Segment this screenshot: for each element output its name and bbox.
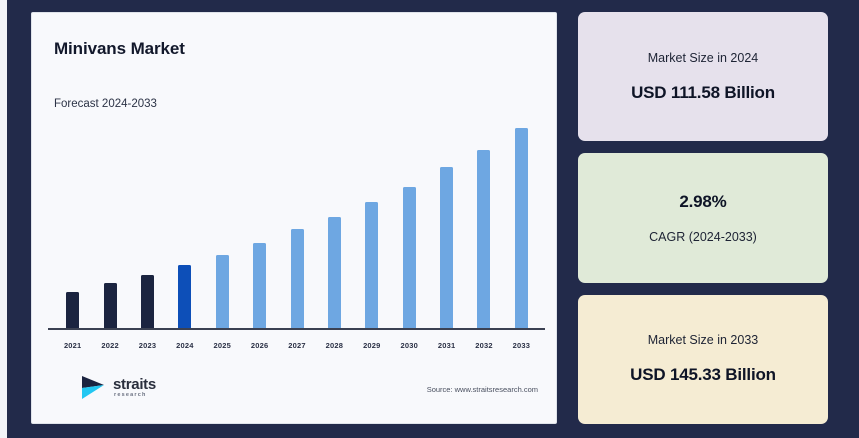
x-tick-2023: 2023 — [129, 335, 166, 353]
bar-2021 — [66, 292, 79, 328]
x-tick-2021: 2021 — [54, 335, 91, 353]
bar-2027 — [291, 229, 304, 328]
page-title: Minivans Market — [54, 39, 185, 59]
kpi-card-market-size-2024: Market Size in 2024USD 111.58 Billion — [578, 12, 828, 141]
kpi-card-list: Market Size in 2024USD 111.58 Billion2.9… — [578, 12, 828, 424]
bar-series — [54, 113, 540, 328]
kpi-value-cagr: 2.98% — [679, 192, 726, 212]
bar-2026 — [253, 243, 266, 328]
x-tick-2031: 2031 — [428, 335, 465, 353]
bar-slot-2032 — [465, 113, 502, 328]
bar-slot-2029 — [353, 113, 390, 328]
kpi-label-cagr: CAGR (2024-2033) — [649, 230, 757, 244]
bar-slot-2027 — [278, 113, 315, 328]
kpi-label-market-size-2033: Market Size in 2033 — [648, 333, 758, 347]
infographic-root: Minivans Market Forecast 2024-2033 20212… — [0, 0, 859, 438]
x-tick-2032: 2032 — [465, 335, 502, 353]
source-attribution: Source: www.straitsresearch.com — [427, 385, 538, 394]
bar-2022 — [104, 283, 117, 328]
x-tick-2033: 2033 — [503, 335, 540, 353]
bar-2028 — [328, 217, 341, 328]
x-axis-tick-labels: 2021202220232024202520262027202820292030… — [54, 335, 540, 353]
bar-slot-2022 — [91, 113, 128, 328]
bar-2030 — [403, 187, 416, 328]
x-tick-2026: 2026 — [241, 335, 278, 353]
bar-slot-2021 — [54, 113, 91, 328]
chart-subtitle: Forecast 2024-2033 — [54, 98, 157, 110]
plot-area — [54, 113, 540, 328]
x-tick-2025: 2025 — [204, 335, 241, 353]
kpi-card-market-size-2033: Market Size in 2033USD 145.33 Billion — [578, 295, 828, 424]
x-tick-2024: 2024 — [166, 335, 203, 353]
straits-research-logo: straits research — [80, 375, 156, 401]
bar-slot-2031 — [428, 113, 465, 328]
kpi-card-cagr: 2.98%CAGR (2024-2033) — [578, 153, 828, 282]
x-tick-2028: 2028 — [316, 335, 353, 353]
x-tick-2029: 2029 — [353, 335, 390, 353]
left-edge-strip — [0, 0, 7, 438]
logo-wordmark: straits — [113, 377, 156, 392]
bar-slot-2030 — [391, 113, 428, 328]
bar-slot-2028 — [316, 113, 353, 328]
kpi-value-market-size-2033: USD 145.33 Billion — [630, 365, 776, 385]
straits-arrow-logo-icon — [80, 375, 108, 401]
kpi-label-market-size-2024: Market Size in 2024 — [648, 51, 758, 65]
chart-panel: Minivans Market Forecast 2024-2033 20212… — [31, 12, 557, 424]
bar-slot-2026 — [241, 113, 278, 328]
x-axis-line — [48, 328, 545, 330]
bar-slot-2024 — [166, 113, 203, 328]
x-tick-2027: 2027 — [278, 335, 315, 353]
bar-2032 — [477, 150, 490, 328]
bar-slot-2033 — [503, 113, 540, 328]
logo-subtext: research — [114, 393, 156, 399]
bar-2024 — [178, 265, 191, 328]
bar-2025 — [216, 255, 229, 328]
kpi-value-market-size-2024: USD 111.58 Billion — [631, 83, 775, 103]
x-tick-2030: 2030 — [391, 335, 428, 353]
bar-slot-2023 — [129, 113, 166, 328]
bar-slot-2025 — [204, 113, 241, 328]
bar-2023 — [141, 275, 154, 328]
bar-2031 — [440, 167, 453, 328]
x-tick-2022: 2022 — [91, 335, 128, 353]
bar-2029 — [365, 202, 378, 328]
bar-2033 — [515, 128, 528, 328]
